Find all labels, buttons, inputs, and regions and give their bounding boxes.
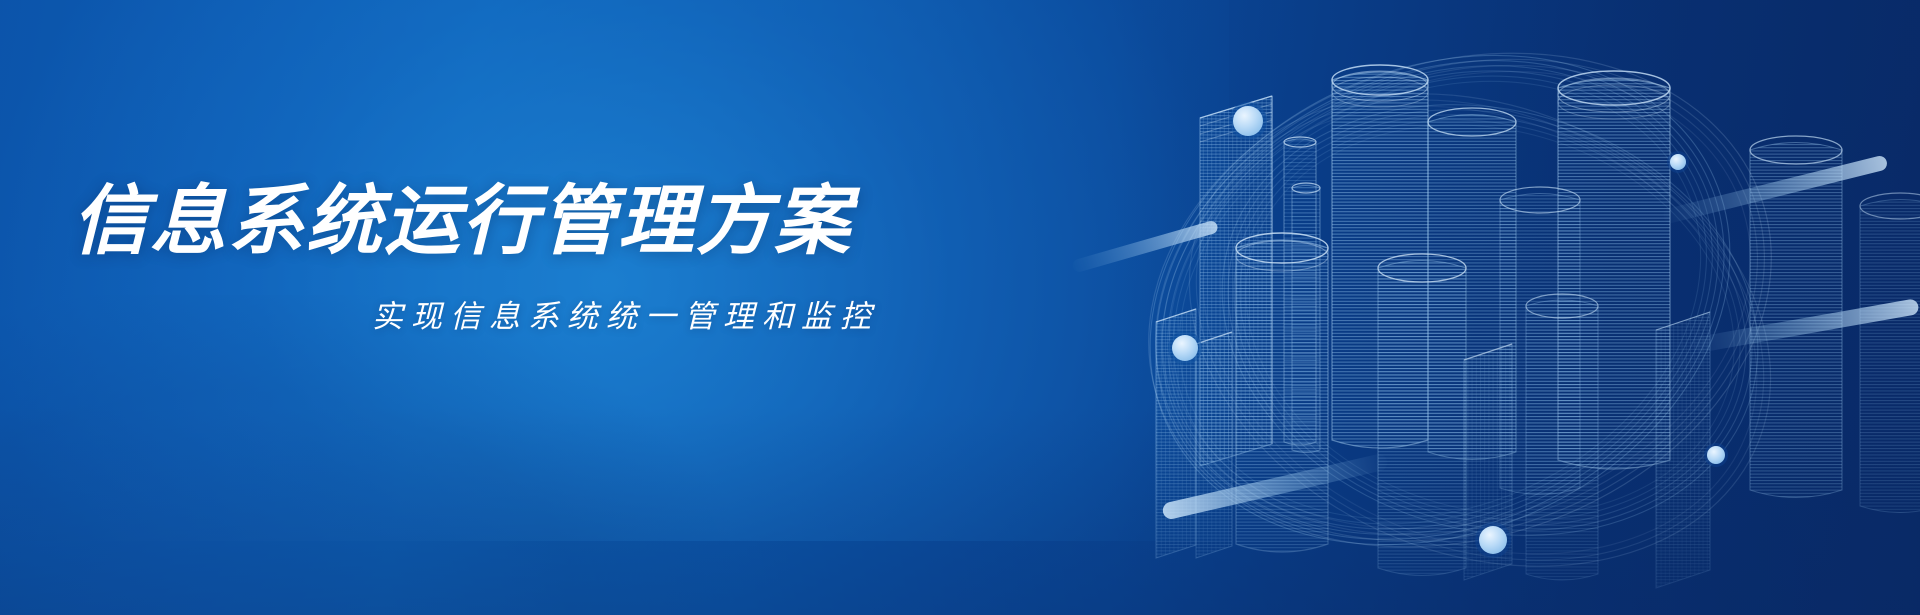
page-title: 信息系统运行管理方案 [72,182,952,263]
page-subtitle: 实现信息系统统一管理和监控 [72,291,952,336]
hero-banner: 信息系统运行管理方案 实现信息系统统一管理和监控 [0,0,1920,615]
headline-block: 信息系统运行管理方案 实现信息系统统一管理和监控 [72,182,952,336]
